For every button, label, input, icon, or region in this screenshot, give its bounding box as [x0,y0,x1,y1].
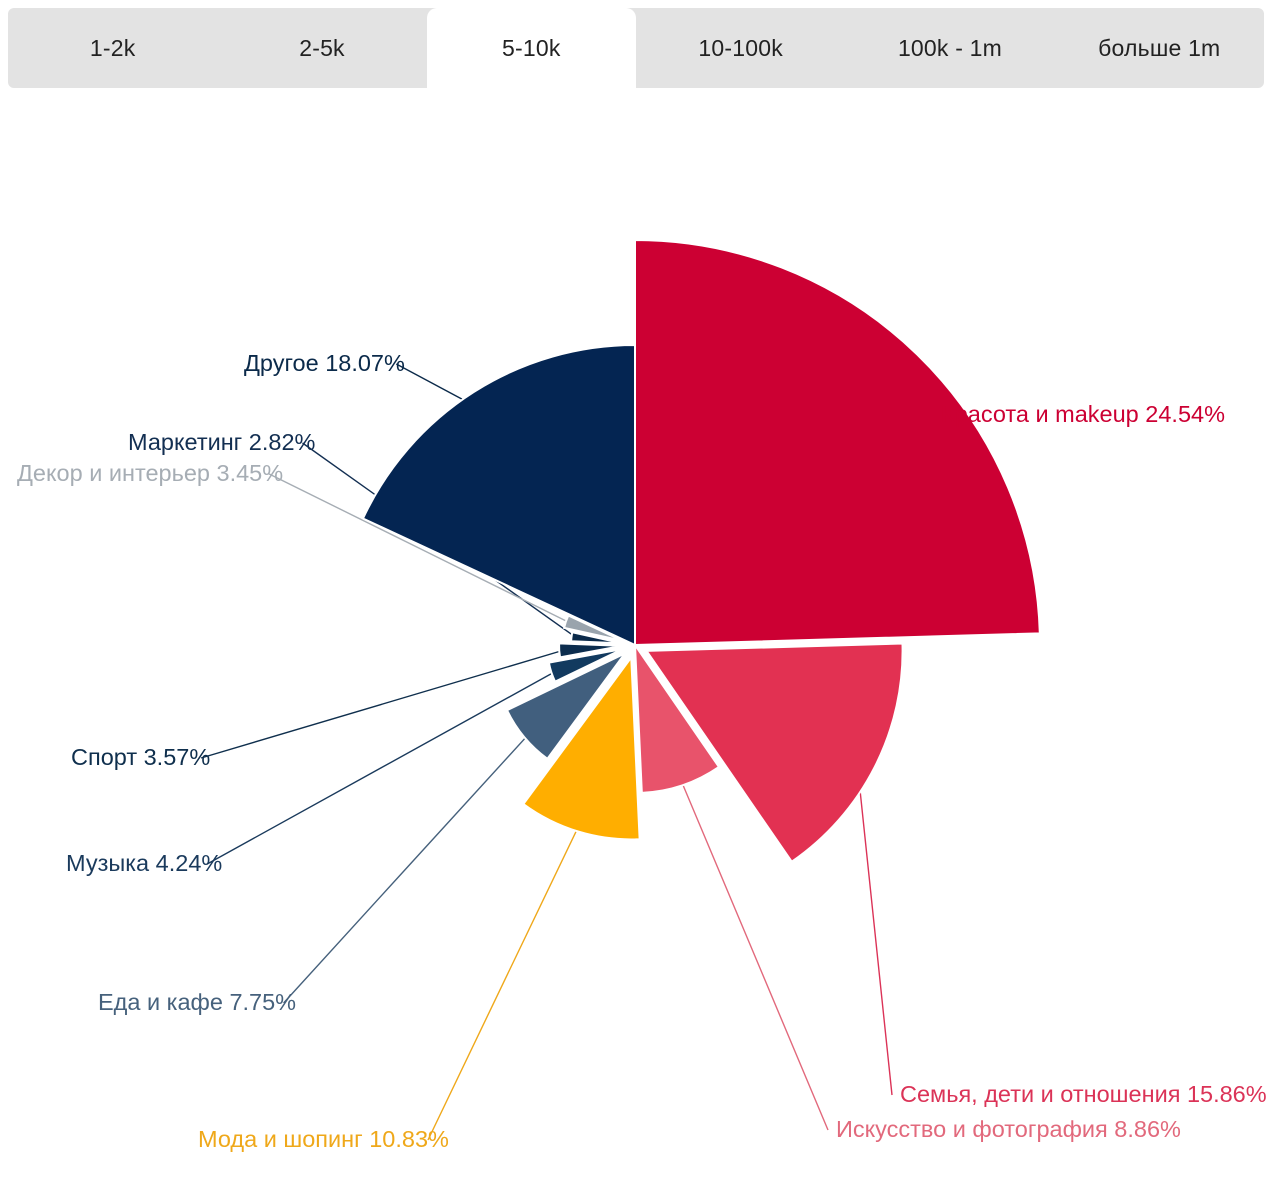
chart-svg: Красота и makeup 24.54%Семья, дети и отн… [0,92,1280,1201]
slice-label-decor: Декор и интерьер 3.45% [17,460,283,486]
tab-100k-1m[interactable]: 100k - 1m [845,8,1054,88]
slice-label-food: Еда и кафе 7.75% [98,989,296,1015]
slice-label-family: Семья, дети и отношения 15.86% [900,1081,1267,1107]
tab-2-5k[interactable]: 2-5k [217,8,426,88]
nightingale-rose-chart: Красота и makeup 24.54%Семья, дети и отн… [0,92,1280,1201]
tab-1-2k[interactable]: 1-2k [8,8,217,88]
slice-label-beauty: Красота и makeup 24.54% [941,401,1225,427]
range-tab-bar: 1-2k 2-5k 5-10k 10-100k 100k - 1m больше… [8,8,1264,88]
slice-label-other: Другое 18.07% [244,350,405,376]
leader-line-food [284,730,533,1003]
slice-label-music: Музыка 4.24% [66,850,222,876]
slice-label-marketing: Маркетинг 2.82% [128,429,316,455]
tab-5-10k[interactable]: 5-10k [427,8,636,88]
slice-label-sport: Спорт 3.57% [71,744,210,770]
leader-line-sport [201,650,564,758]
tab-10-100k[interactable]: 10-100k [636,8,845,88]
leader-line-music [207,671,557,865]
leader-line-family [857,758,892,1096]
leader-line-fashion [428,818,583,1140]
slice-label-art: Искусство и фотография 8.86% [836,1116,1181,1142]
slice-label-fashion: Мода и шопинг 10.83% [198,1126,449,1152]
pie-slice-10[interactable]: Другое 18.07% [363,345,635,645]
pie-sectors-group: Красота и makeup 24.54%Семья, дети и отн… [363,240,1040,862]
pie-slice-1[interactable]: Красота и makeup 24.54% [635,240,1040,645]
tab-bolshe-1m[interactable]: больше 1m [1055,8,1264,88]
